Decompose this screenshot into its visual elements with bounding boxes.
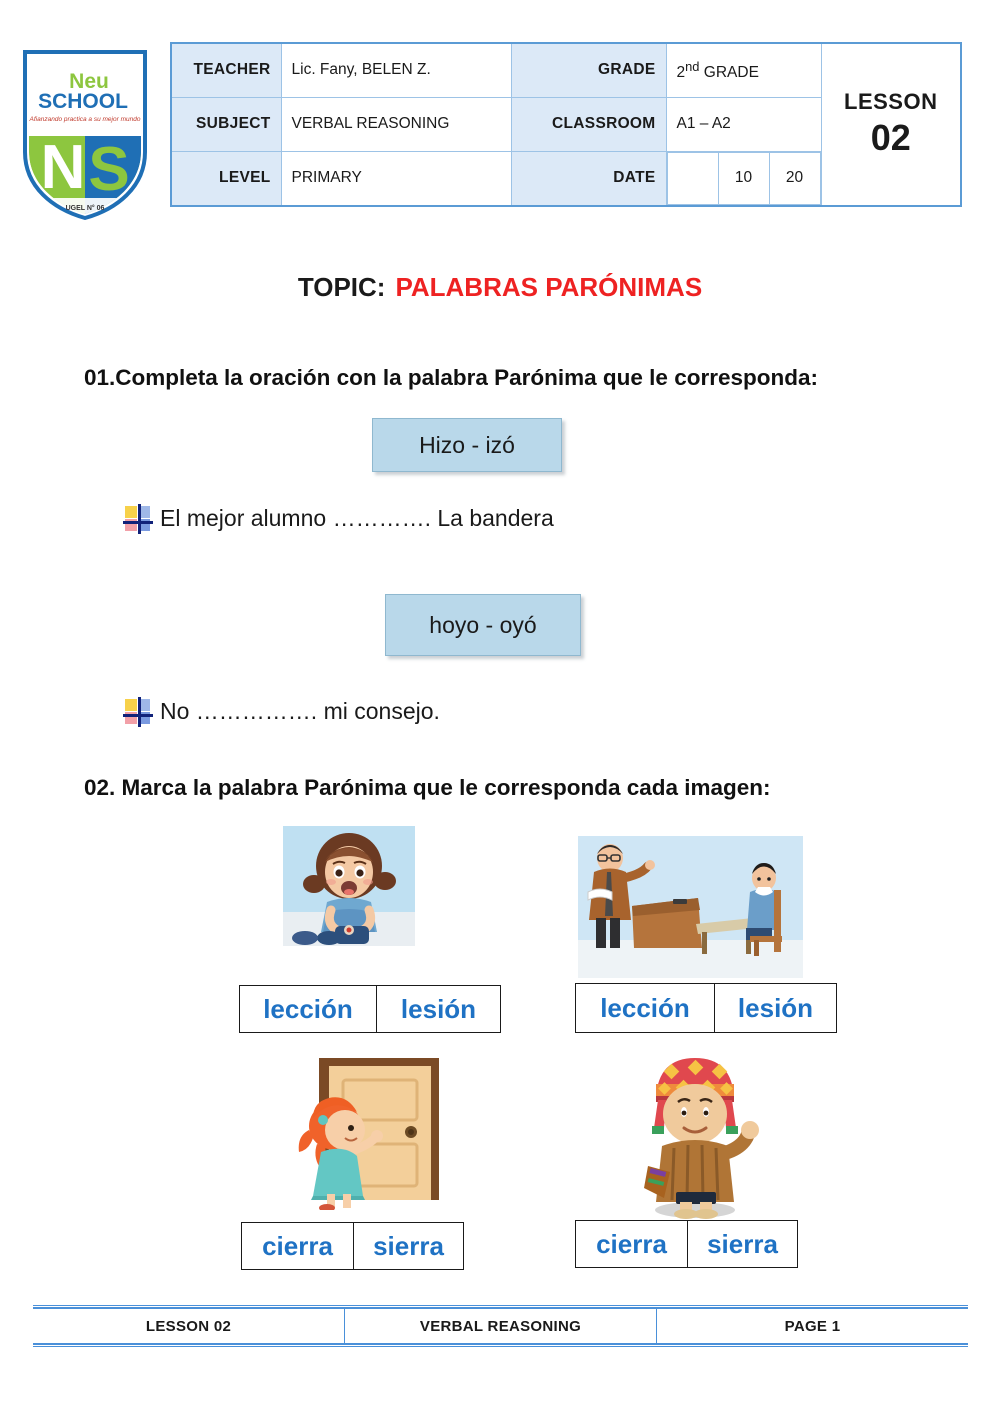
answer-options-3: cierra sierra <box>241 1222 464 1270</box>
lesson-badge: LESSON 02 <box>821 43 961 206</box>
page-footer: LESSON 02 VERBAL REASONING PAGE 1 <box>33 1305 968 1347</box>
sentence-text-2: No ……………. mi consejo. <box>160 698 440 725</box>
option-cierra-1[interactable]: cierra <box>241 1222 354 1270</box>
question-2-prompt: 02. Marca la palabra Parónima que le cor… <box>84 772 922 805</box>
label-subject: SUBJECT <box>171 97 281 151</box>
question-2-text: Marca la palabra Parónima que le corresp… <box>122 775 771 800</box>
image-andean-boy-sierra <box>616 1042 774 1220</box>
label-level: LEVEL <box>171 151 281 206</box>
image-girl-hurt-knee <box>283 826 415 946</box>
table-row: 10 20 <box>667 152 820 204</box>
header-info-table: TEACHER Lic. Fany, BELEN Z. GRADE 2nd GR… <box>170 42 962 207</box>
value-grade: 2nd GRADE <box>666 43 821 97</box>
question-2-number: 02. <box>84 775 115 800</box>
date-year-cell[interactable]: 20 <box>769 152 820 204</box>
sentence-item-1: El mejor alumno …………. La bandera <box>124 505 554 532</box>
answer-options-4: cierra sierra <box>575 1220 798 1268</box>
cross-bullet-icon <box>124 506 150 532</box>
footer-lesson: LESSON 02 <box>33 1309 345 1343</box>
date-day-cell[interactable] <box>667 152 718 204</box>
sentence-item-2: No ……………. mi consejo. <box>124 698 440 725</box>
footer-page: PAGE 1 <box>657 1309 968 1343</box>
shield-logo-icon: N S Neu SCHOOL Afianzando practica a su … <box>19 48 151 220</box>
image-girl-closing-door <box>283 1048 455 1210</box>
label-classroom: CLASSROOM <box>511 97 666 151</box>
value-subject: VERBAL REASONING <box>281 97 511 151</box>
table-row: TEACHER Lic. Fany, BELEN Z. GRADE 2nd GR… <box>171 43 961 97</box>
logo-ugel-text: UGEL N° 06 <box>66 204 105 212</box>
question-1-prompt: 01.Completa la oración con la palabra Pa… <box>84 362 922 395</box>
topic-line: TOPIC:PALABRAS PARÓNIMAS <box>0 272 1000 303</box>
word-chip-hoyo-oyo[interactable]: hoyo - oyó <box>385 594 581 656</box>
logo-tagline: Afianzando practica a su mejor mundo <box>29 116 141 123</box>
value-teacher: Lic. Fany, BELEN Z. <box>281 43 511 97</box>
label-date: DATE <box>511 151 666 206</box>
option-lesion-2[interactable]: lesión <box>715 983 837 1033</box>
option-sierra-1[interactable]: sierra <box>354 1222 464 1270</box>
cross-bullet-icon <box>124 699 150 725</box>
topic-label: TOPIC: <box>298 272 386 302</box>
svg-text:N: N <box>41 133 86 202</box>
lesson-number: 02 <box>832 117 951 159</box>
school-logo: N S Neu SCHOOL Afianzando practica a su … <box>0 42 170 220</box>
question-1-number: 01. <box>84 365 115 390</box>
label-grade: GRADE <box>511 43 666 97</box>
date-month-cell[interactable]: 10 <box>718 152 769 204</box>
option-cierra-2[interactable]: cierra <box>575 1220 688 1268</box>
logo-line2: SCHOOL <box>38 90 128 113</box>
image-teacher-lesson <box>578 836 803 978</box>
option-lesion-1[interactable]: lesión <box>377 985 501 1033</box>
date-cells-container: 10 20 <box>666 151 821 206</box>
word-chip-hizo-izo[interactable]: Hizo - izó <box>372 418 562 472</box>
option-leccion-2[interactable]: lección <box>575 983 715 1033</box>
option-leccion-1[interactable]: lección <box>239 985 377 1033</box>
grade-ordinal-suffix: nd <box>685 59 699 74</box>
label-teacher: TEACHER <box>171 43 281 97</box>
date-subtable: 10 20 <box>667 152 821 205</box>
value-classroom: A1 – A2 <box>666 97 821 151</box>
answer-options-1: lección lesión <box>239 985 501 1033</box>
option-sierra-2[interactable]: sierra <box>688 1220 798 1268</box>
value-level: PRIMARY <box>281 151 511 206</box>
document-header: N S Neu SCHOOL Afianzando practica a su … <box>0 42 1000 247</box>
question-1-text: Completa la oración con la palabra Parón… <box>115 365 818 390</box>
answer-options-2: lección lesión <box>575 983 837 1033</box>
footer-subject: VERBAL REASONING <box>345 1309 657 1343</box>
topic-value: PALABRAS PARÓNIMAS <box>395 272 702 302</box>
lesson-word: LESSON <box>832 89 951 115</box>
sentence-text-1: El mejor alumno …………. La bandera <box>160 505 554 532</box>
